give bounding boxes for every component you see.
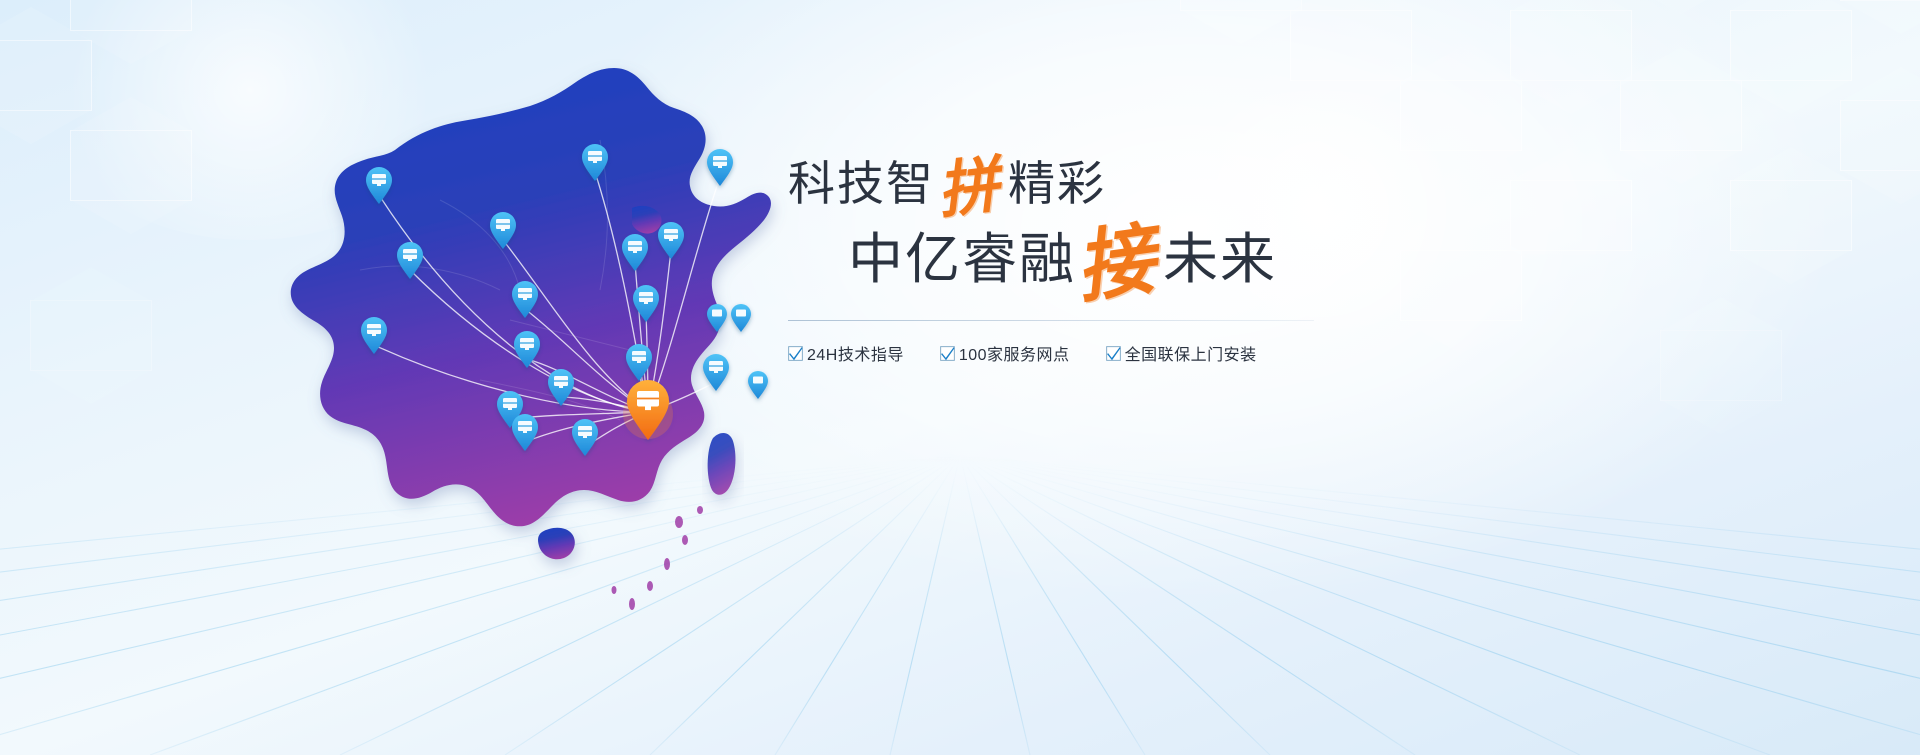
hero-banner: 科技智拼精彩 中亿睿融接未来 24H技术指导 xyxy=(0,0,1920,755)
headline-accent-jie: 接 xyxy=(1071,218,1162,307)
headline-line-2: 中亿睿融接未来 xyxy=(770,232,1330,290)
feature-label: 24H技术指导 xyxy=(807,341,904,365)
headline-line2-post: 未来 xyxy=(1163,228,1277,290)
feature-list: 24H技术指导 100家服务网点 全国联保上 xyxy=(788,341,1330,365)
feature-item-24h: 24H技术指导 xyxy=(788,341,904,365)
headline-accent-pin: 拼 xyxy=(934,154,1005,222)
headline-line-1: 科技智拼精彩 xyxy=(770,160,1330,212)
check-box-icon xyxy=(940,346,955,361)
pin-small[interactable] xyxy=(748,371,768,399)
check-box-icon xyxy=(1106,346,1121,361)
map-island-dots xyxy=(612,506,704,610)
feature-label: 100家服务网点 xyxy=(959,341,1070,365)
china-map xyxy=(180,20,800,640)
pin-screen[interactable] xyxy=(703,354,729,391)
map-island-taiwan xyxy=(708,433,736,495)
pin-screen[interactable] xyxy=(707,149,733,186)
headline-line2-pre: 中亿睿融 xyxy=(848,228,1076,290)
check-box-icon xyxy=(788,346,803,361)
headline-line1-pre: 科技智 xyxy=(788,157,935,210)
banner-text-column: 科技智拼精彩 中亿睿融接未来 24H技术指导 xyxy=(770,160,1330,365)
feature-label: 全国联保上门安装 xyxy=(1125,341,1257,365)
feature-item-service-points: 100家服务网点 xyxy=(940,341,1070,365)
headline-divider xyxy=(788,320,1314,321)
feature-item-nationwide-install: 全国联保上门安装 xyxy=(1106,341,1257,365)
pin-small[interactable] xyxy=(731,304,751,332)
headline-line1-post: 精彩 xyxy=(1008,157,1106,210)
